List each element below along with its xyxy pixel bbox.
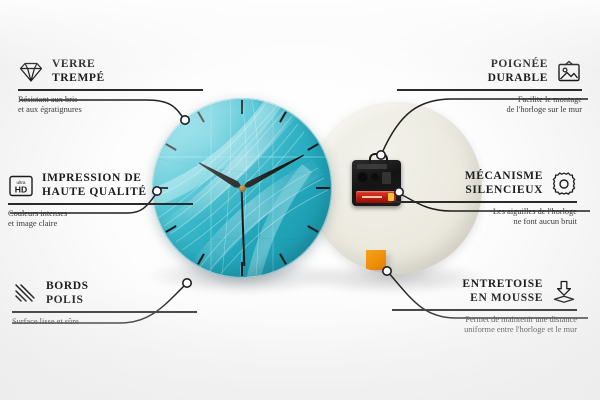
feature-title-line2: SILENCIEUX	[465, 184, 543, 198]
feature-description: Résistant aux bris et aux égratignures	[18, 95, 203, 116]
gear-icon	[551, 171, 577, 197]
feature-impression-haute-qualite: ultra HD IMPRESSION DE HAUTE QUALITÉ Cou…	[8, 172, 193, 229]
feature-desc-line1: Les aiguilles de l'horloge	[392, 207, 577, 217]
feature-header: MÉCANISME SILENCIEUX	[392, 170, 577, 197]
feature-desc-line1: Résistant aux bris	[18, 95, 203, 105]
feature-title-line2: HAUTE QUALITÉ	[42, 186, 147, 200]
connector-node-poignee	[377, 151, 385, 159]
feature-title: IMPRESSION DE HAUTE QUALITÉ	[42, 172, 147, 199]
feature-description: Permet de maintenir une distance uniform…	[392, 315, 577, 336]
feature-title-line1: VERRE	[52, 58, 105, 72]
feature-title-line1: BORDS	[46, 280, 89, 294]
feature-verre-trempe: VERRE TREMPÉ Résistant aux bris et aux é…	[18, 58, 203, 115]
feature-divider	[18, 89, 203, 91]
feature-divider	[392, 309, 577, 311]
feature-divider	[397, 89, 582, 91]
feature-title-line2: POLIS	[46, 294, 89, 308]
feature-bords-polis: BORDS POLIS Surface lisse et sûre	[12, 280, 197, 327]
diamond-icon	[18, 59, 44, 85]
feature-entretoise-en-mousse: ENTRETOISE EN MOUSSE Permet de maintenir…	[392, 278, 577, 335]
connector-node-verre	[181, 116, 189, 124]
feature-mecanisme-silencieux: MÉCANISME SILENCIEUX Les aiguilles de l'…	[392, 170, 577, 227]
feature-title-line2: TREMPÉ	[52, 72, 105, 86]
connector-node-entretoise	[383, 267, 391, 275]
feature-title-line2: DURABLE	[488, 72, 548, 86]
polished-edges-icon	[12, 281, 38, 307]
feature-description: Couleurs intenses et image claire	[8, 209, 193, 230]
feature-header: ultra HD IMPRESSION DE HAUTE QUALITÉ	[8, 172, 193, 199]
feature-description: Les aiguilles de l'horloge ne font aucun…	[392, 207, 577, 228]
feature-title-line1: ENTRETOISE	[462, 278, 543, 292]
feature-header: ENTRETOISE EN MOUSSE	[392, 278, 577, 305]
feature-description: Facilite le montage de l'horloge sur le …	[397, 95, 582, 116]
feature-desc-line2: uniforme entre l'horloge et le mur	[392, 325, 577, 335]
feature-desc-line2: et image claire	[8, 219, 193, 229]
feature-desc-line2: ne font aucun bruit	[392, 217, 577, 227]
feature-divider	[12, 311, 197, 313]
svg-text:HD: HD	[15, 184, 27, 194]
feature-title-line1: POIGNÉE	[488, 58, 548, 72]
feature-title: VERRE TREMPÉ	[52, 58, 105, 85]
feature-title: BORDS POLIS	[46, 280, 89, 307]
feature-desc-line1: Couleurs intenses	[8, 209, 193, 219]
feature-description: Surface lisse et sûre	[12, 317, 197, 327]
feature-title: MÉCANISME SILENCIEUX	[465, 170, 543, 197]
feature-desc-line1: Surface lisse et sûre	[12, 317, 197, 327]
feature-desc-line2: de l'horloge sur le mur	[397, 105, 582, 115]
feature-title: POIGNÉE DURABLE	[488, 58, 548, 85]
feature-header: VERRE TREMPÉ	[18, 58, 203, 85]
feature-divider	[8, 203, 193, 205]
feature-desc-line1: Permet de maintenir une distance	[392, 315, 577, 325]
feature-title-line1: MÉCANISME	[465, 170, 543, 184]
ultra-hd-icon: ultra HD	[8, 173, 34, 199]
feature-title: ENTRETOISE EN MOUSSE	[462, 278, 543, 305]
feature-title-line2: EN MOUSSE	[462, 292, 543, 306]
feature-desc-line2: et aux égratignures	[18, 105, 203, 115]
picture-frame-hanger-icon	[556, 59, 582, 85]
foam-spacer-arrow-icon	[551, 279, 577, 305]
feature-poignee-durable: POIGNÉE DURABLE Facilite le montage de l…	[397, 58, 582, 115]
feature-header: POIGNÉE DURABLE	[397, 58, 582, 85]
feature-title-line1: IMPRESSION DE	[42, 172, 147, 186]
feature-desc-line1: Facilite le montage	[397, 95, 582, 105]
feature-header: BORDS POLIS	[12, 280, 197, 307]
infographic-canvas: VERRE TREMPÉ Résistant aux bris et aux é…	[0, 0, 600, 400]
feature-divider	[392, 201, 577, 203]
